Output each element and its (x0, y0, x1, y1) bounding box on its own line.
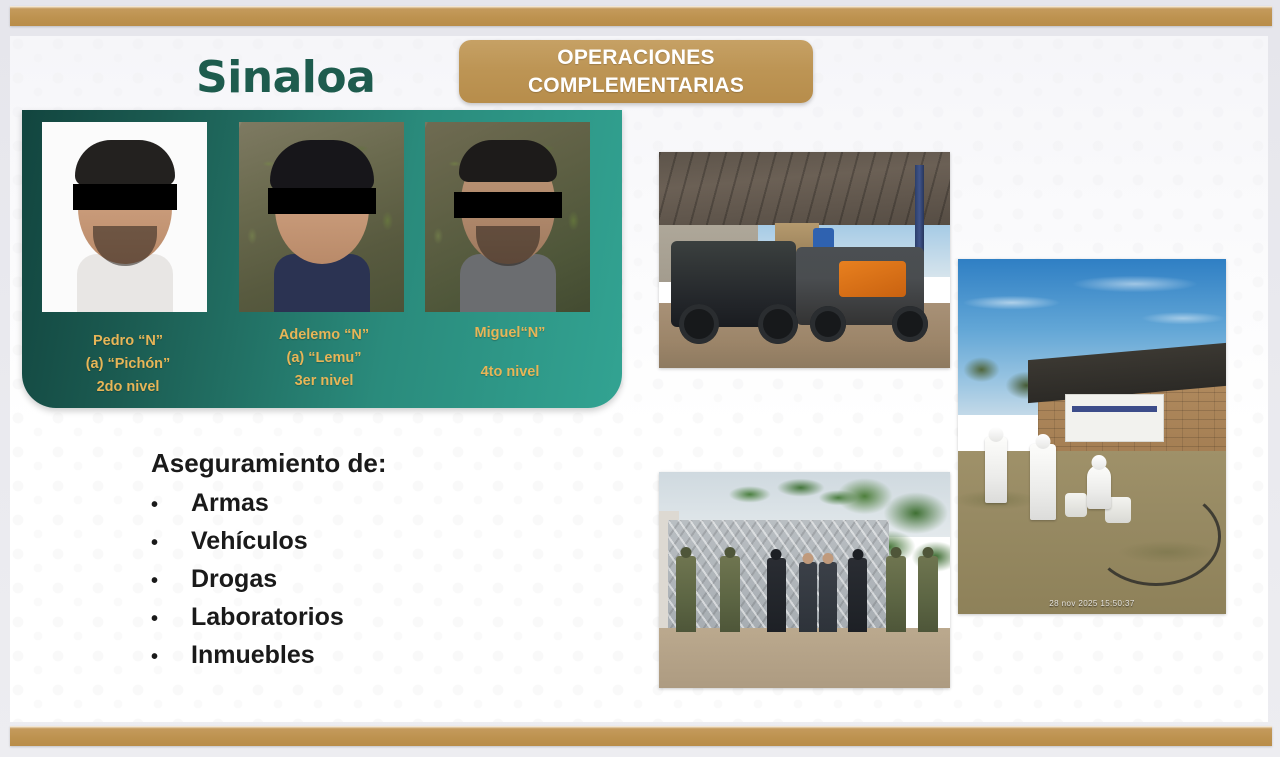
photo-clandestine-lab: 28 nov 2025 15:50:37 (958, 259, 1226, 614)
portrait-1 (42, 122, 207, 312)
hazmat-technician (1030, 444, 1056, 520)
seizure-item-label: Vehículos (191, 527, 308, 556)
carport-roof (659, 152, 950, 225)
portrait-3 (425, 122, 590, 312)
seizures-title: Aseguramiento de: (151, 448, 581, 479)
seizure-item-label: Inmuebles (191, 641, 315, 670)
head (852, 549, 863, 560)
bullet-icon: • (151, 495, 191, 515)
mugshot-photo-1 (42, 122, 207, 312)
detainee-name-2: Adelemo “N” (279, 327, 369, 343)
hood (988, 427, 1003, 442)
utv-scene (659, 152, 950, 368)
slide-canvas: Sinaloa OPERACIONES COMPLEMENTARIAS (0, 0, 1280, 757)
bullet-icon: • (151, 609, 191, 629)
police-figure (848, 558, 867, 632)
wheel (892, 306, 928, 342)
bullet-icon: • (151, 533, 191, 553)
black-hose (1091, 487, 1220, 585)
lab-scene: 28 nov 2025 15:50:37 (958, 259, 1226, 614)
detainee-label-3: Miguel“N” 4to nivel (420, 322, 600, 384)
detainee-labels: Pedro “N” (a) “Pichón” 2do nivel Adelemo… (22, 316, 622, 408)
operations-badge-line2: COMPLEMENTARIAS (528, 72, 744, 100)
head (802, 553, 813, 564)
detainee-level-3: 4to nivel (420, 361, 600, 384)
page-title: Sinaloa (196, 52, 375, 103)
police-figure (767, 558, 786, 632)
operations-badge-line1: OPERACIONES (557, 44, 714, 72)
mugshot-gallery (22, 110, 622, 315)
hazmat-technician (985, 437, 1007, 503)
mugshot-photo-3 (425, 122, 590, 312)
top-gold-rule (10, 6, 1272, 26)
list-item: • Laboratorios (151, 603, 581, 632)
portrait-hair-3 (459, 140, 557, 182)
list-item: • Drogas (151, 565, 581, 594)
portrait-2 (239, 122, 404, 312)
seizures-list: • Armas • Vehículos • Drogas • Laborator… (151, 489, 581, 670)
detainee-name-3: Miguel“N” (475, 325, 546, 341)
bottom-gold-rule (10, 726, 1272, 746)
detainee-level-1: 2do nivel (42, 376, 214, 399)
portrait-hair-2 (270, 140, 374, 192)
soldier-figure (676, 556, 696, 632)
detainee-figure (819, 562, 837, 632)
detainee-label-2: Adelemo “N” (a) “Lemu” 3er nivel (234, 324, 414, 394)
detainee-alias-2: (a) “Lemu” (234, 347, 414, 370)
wheel (758, 304, 798, 344)
hood (1091, 455, 1106, 470)
detainee-label-1: Pedro “N” (a) “Pichón” 2do nivel (42, 330, 214, 400)
list-item: • Armas (151, 489, 581, 518)
head (725, 547, 736, 558)
operations-badge: OPERACIONES COMPLEMENTARIAS (459, 40, 813, 103)
list-item: • Inmuebles (151, 641, 581, 670)
seizure-item-label: Drogas (191, 565, 277, 594)
portrait-hair-1 (75, 140, 175, 186)
detainee-figure (799, 562, 817, 632)
detainee-level-2: 3er nivel (234, 370, 414, 393)
head (823, 553, 834, 564)
bullet-icon: • (151, 571, 191, 591)
detainee-alias-1: (a) “Pichón” (42, 353, 214, 376)
censor-bar-icon-1 (73, 184, 177, 210)
photo-timestamp: 28 nov 2025 15:50:37 (958, 599, 1226, 608)
detainee-name-1: Pedro “N” (93, 333, 163, 349)
seizures-block: Aseguramiento de: • Armas • Vehículos • … (151, 448, 581, 679)
soldier-figure (720, 556, 740, 632)
photo-detention-scene (659, 472, 950, 688)
hood (1036, 434, 1051, 449)
photo-seized-utvs (659, 152, 950, 368)
mugshot-photo-2 (239, 122, 404, 312)
head (922, 547, 933, 558)
dirt-ground (659, 628, 950, 688)
censor-bar-icon-2 (268, 188, 376, 214)
list-item: • Vehículos (151, 527, 581, 556)
bullet-icon: • (151, 647, 191, 667)
detention-scene (659, 472, 950, 688)
censor-bar-icon-3 (454, 192, 562, 218)
chemical-drum (1065, 493, 1087, 517)
soldier-figure (918, 556, 938, 632)
seizure-item-label: Armas (191, 489, 269, 518)
soldier-figure (886, 556, 906, 632)
head (771, 549, 782, 560)
agency-banner (1065, 394, 1163, 442)
detainees-panel: Pedro “N” (a) “Pichón” 2do nivel Adelemo… (22, 110, 622, 408)
head (890, 547, 901, 558)
seizure-item-label: Laboratorios (191, 603, 344, 632)
head (681, 547, 692, 558)
